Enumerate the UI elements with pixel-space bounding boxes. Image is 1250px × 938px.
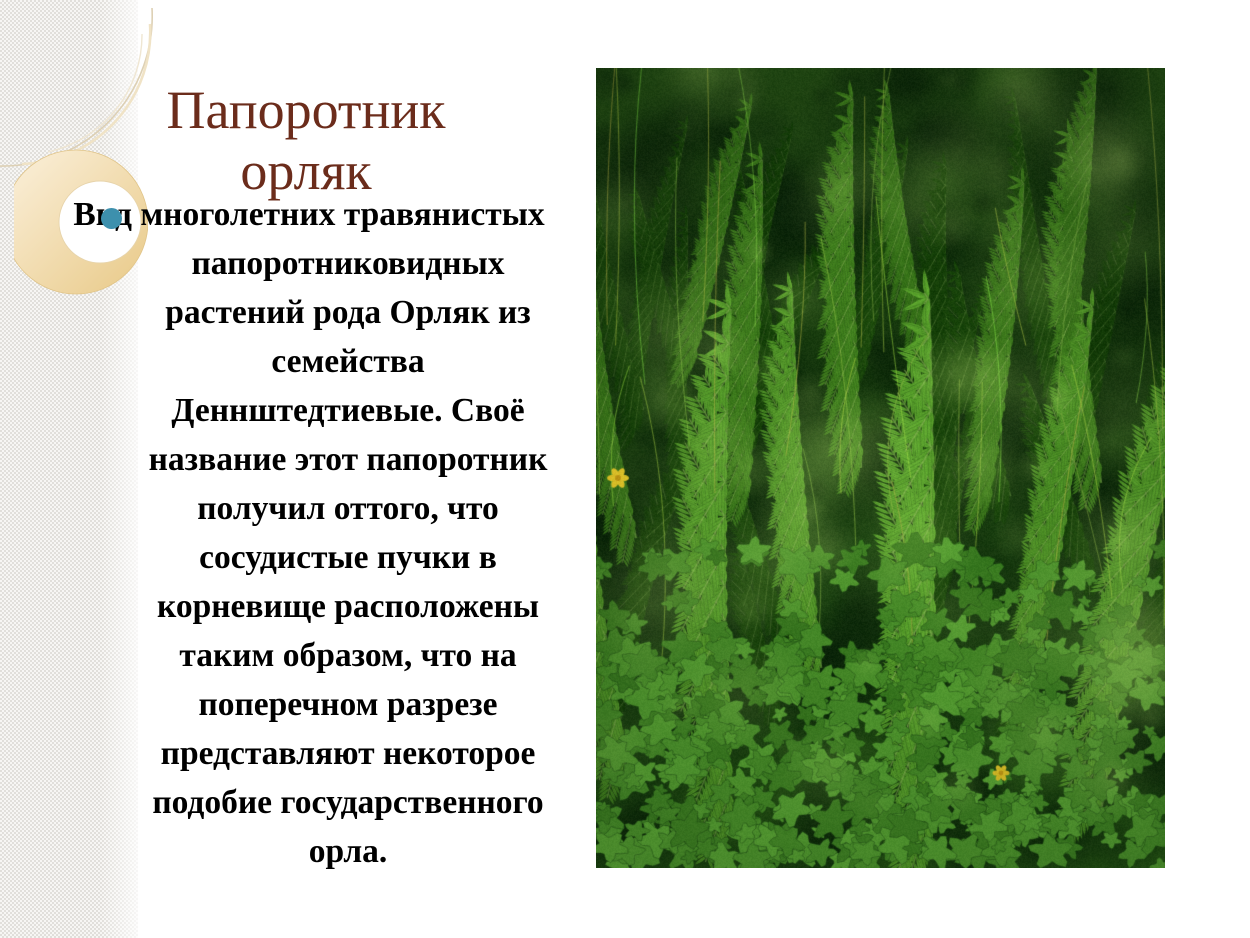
body-paragraph: Вид многолетних травянистых папоротников… [62,190,562,876]
fern-photo [596,68,1165,868]
body-text-block: Вид многолетних травянистых папоротников… [62,190,562,876]
title-line-1: Папоротник [166,80,445,140]
page-title: Папоротник орляк [96,80,516,201]
bullet-point-icon [101,208,122,229]
fern-photo-canvas [596,68,1165,868]
presentation-slide: Папоротник орляк Вид многолетних травяни… [0,0,1250,938]
